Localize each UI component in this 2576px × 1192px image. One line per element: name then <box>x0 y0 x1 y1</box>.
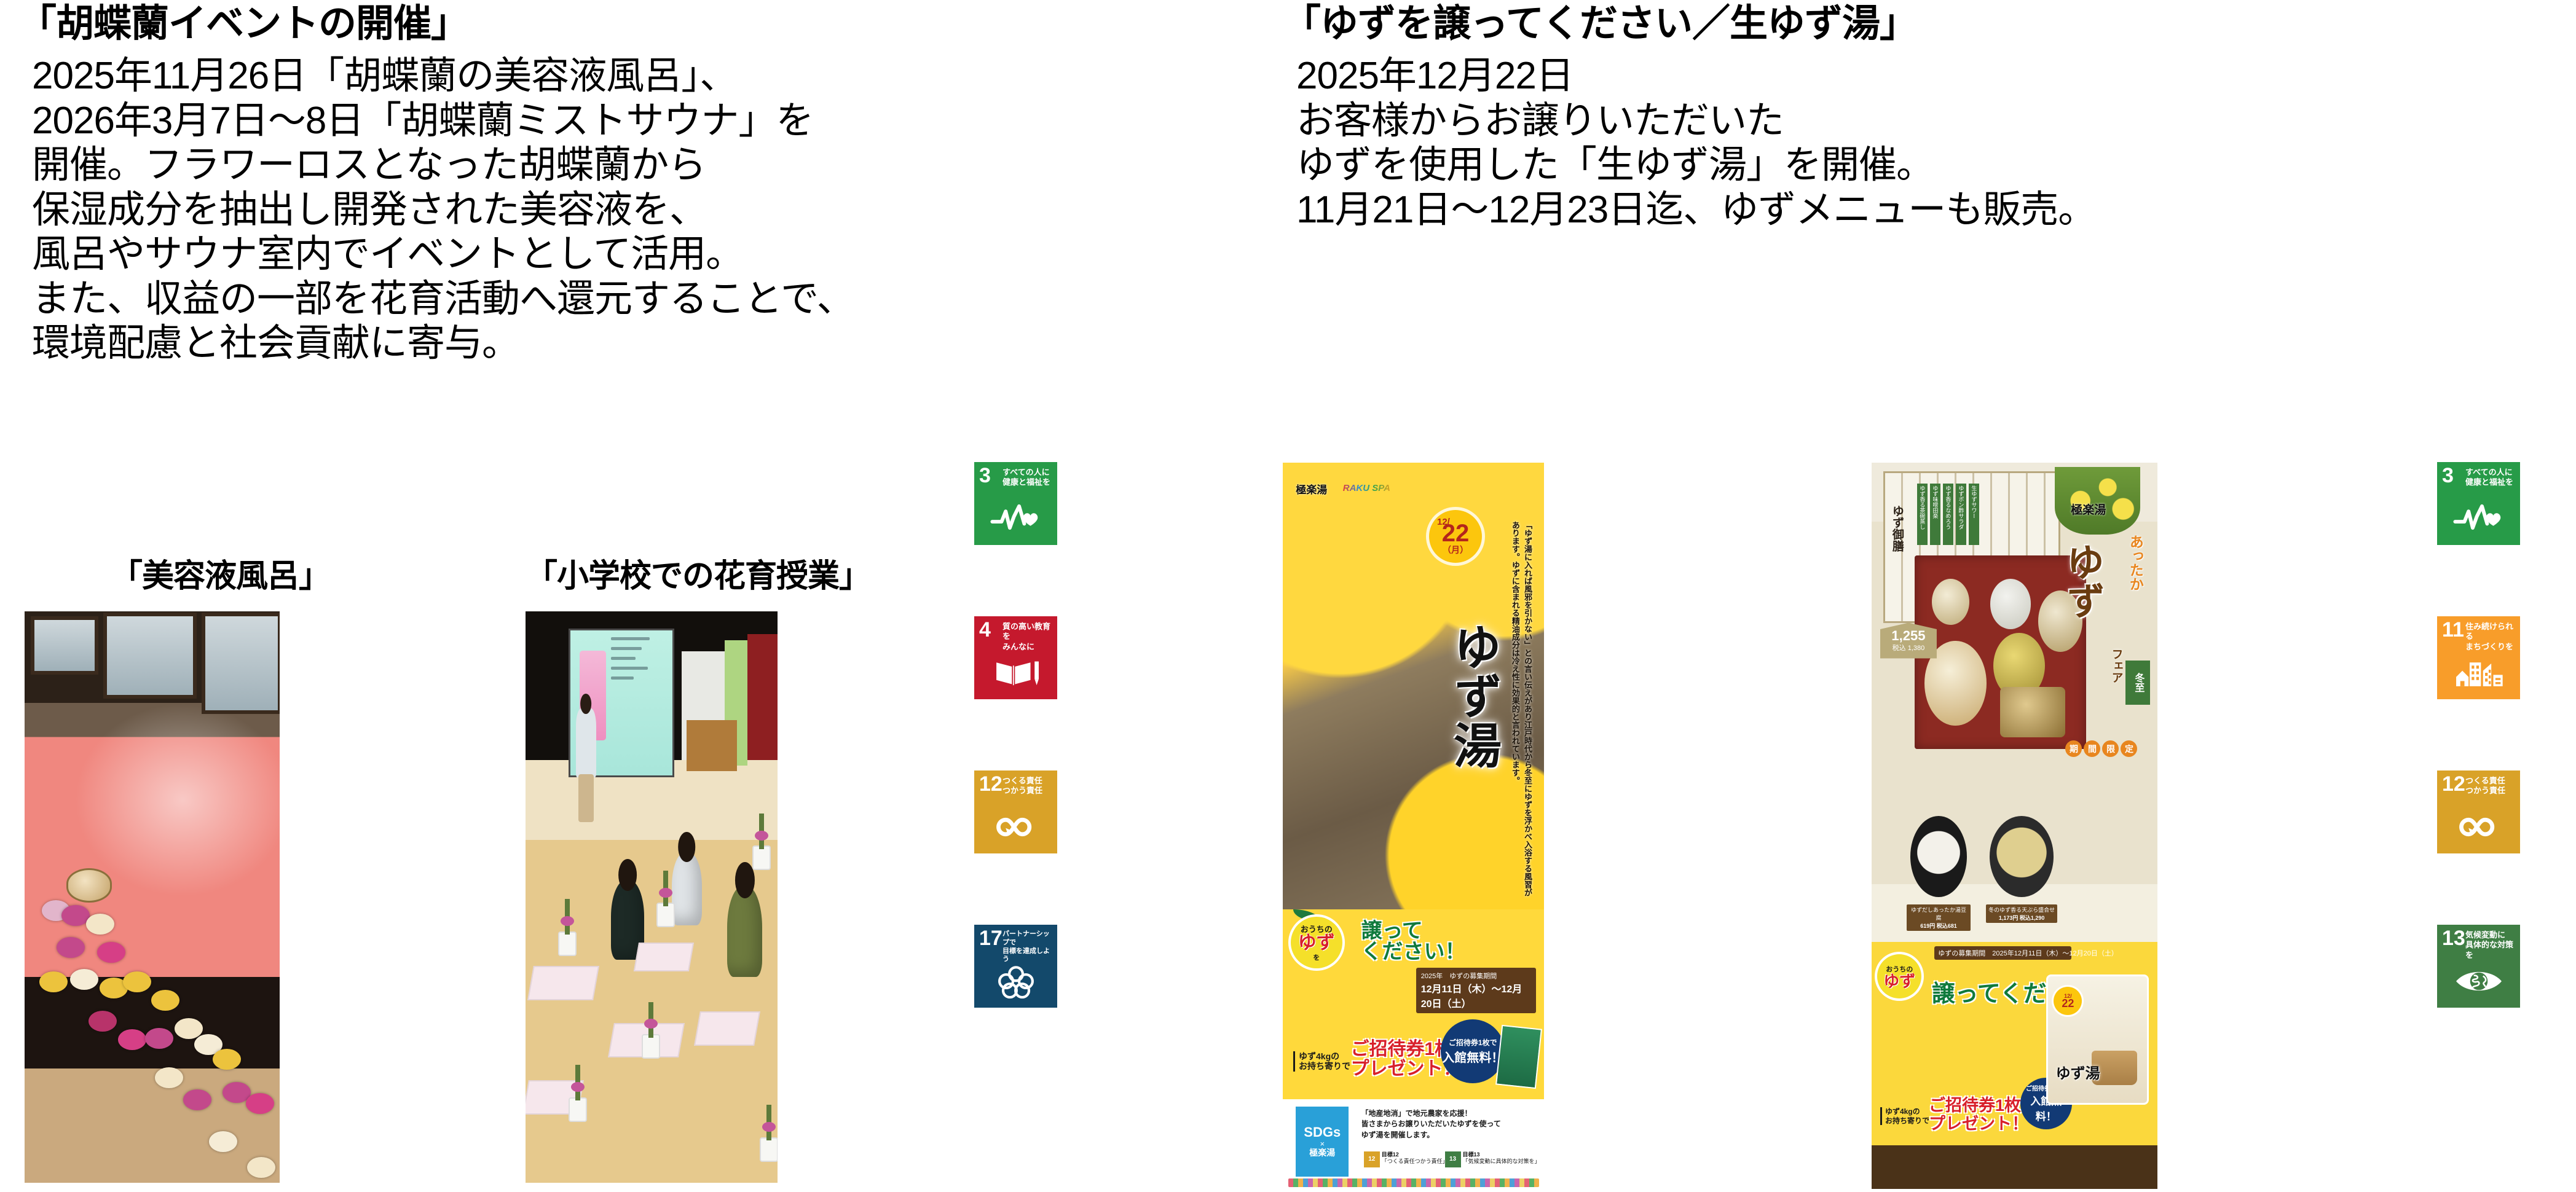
caption-beauty-bath: 「美容液風呂」 <box>111 550 330 596</box>
period-value: 12月11日（木）〜12月20日（土） <box>1421 981 1532 1010</box>
mini-goal-12-title: 目標12 <box>1382 1151 1399 1158</box>
limited-char: 間 <box>2084 740 2100 757</box>
right-body: 2025年12月22日 お客様からお譲りいただいた ゆずを使用した「生ゆず湯」を… <box>1283 54 2095 232</box>
poster-yuzu-fair-footer <box>1872 1145 2157 1189</box>
left-body-line-6: また、収益の一部を花育活動へ還元することで、 <box>32 277 854 322</box>
left-text-block: 「胡蝶蘭イベントの開催」 2025年11月26日「胡蝶蘭の美容液風呂」、 202… <box>18 5 854 366</box>
sdgs-rakuspa-badge: SDGs × 極楽湯 <box>1296 1107 1349 1177</box>
left-body: 2025年11月26日「胡蝶蘭の美容液風呂」、 2026年3月7日〜8日「胡蝶蘭… <box>18 54 854 366</box>
sdgs-label: SDGs <box>1304 1125 1341 1140</box>
yuzu-gozen-label: ゆず御膳 <box>1889 505 1905 552</box>
limited-char: 定 <box>2121 740 2137 757</box>
yuzu-circle-badge: おうちの ゆず <box>1877 954 1921 998</box>
yuzu-condition-text: ゆず4kgの お持ち寄りで <box>1880 1107 1929 1125</box>
poster-yuzuyu-sdg-footer: SDGs × 極楽湯 「地産地消」で地元農家を応援！ 皆さまからお譲りいただいた… <box>1283 1098 1544 1189</box>
sdg-icon-3-right: 3 すべての人に 健康と福祉を <box>2437 462 2520 545</box>
dish-photo-tofu <box>1910 816 1967 897</box>
circles-icon <box>974 960 1057 1003</box>
poster-yuzu-fair-headline: ゆず <box>2054 543 2109 620</box>
yuzuyu-photo-card: 12/ 22 ゆず湯 <box>2046 974 2149 1105</box>
mini-goal-13: 13 目標13 「気候変動に具体的な対策を」 <box>1445 1151 1540 1167</box>
infinity-icon <box>974 806 1057 849</box>
fair-label: フェア <box>2108 648 2125 683</box>
right-body-line-1: 2025年12月22日 <box>1296 54 2095 99</box>
sdg-number: 12 <box>2442 774 2465 794</box>
rakuspa-logo: 極楽湯 <box>2071 501 2106 517</box>
poster-yuzu-fair[interactable]: ゆず御膳 ゆず香る茶碗蒸し ゆず味噌田楽 ゆず香るなめろう ゆずポン酢サラダ 生… <box>1872 463 2157 1189</box>
menu-item: ゆず味噌田楽 <box>1930 484 1940 545</box>
left-body-line-7: 環境配慮と社会貢献に寄与。 <box>32 321 854 366</box>
yuzuyu-date-badge: 12/ 22 <box>2054 987 2082 1015</box>
menu-item: ゆず香るなめろう <box>1943 484 1953 545</box>
free-entry-badge: ご招待券1枚で 入館無料！ <box>1441 1019 1505 1083</box>
poster-yuzuyu-yellow-band: おうちの ゆず を 譲って ください！ 2025年 ゆずの募集期間 12月11日… <box>1283 909 1544 1098</box>
mini-goal-12-number: 12 <box>1364 1151 1380 1167</box>
dish2-price: 1,173円 税込1,290 <box>1999 915 2045 921</box>
limited-period-badges: 期 間 限 定 <box>2065 740 2137 757</box>
menu-item: ゆず香る茶碗蒸し <box>1917 484 1928 545</box>
sdg-number: 4 <box>979 619 991 640</box>
sdgs-brand: 極楽湯 <box>1309 1148 1335 1158</box>
mini-goal-12: 12 目標12 「つくる責任つかう責任」 <box>1364 1151 1448 1167</box>
sdg-number: 17 <box>979 928 1002 949</box>
yuzu-circle-main: ゆず <box>1298 935 1335 952</box>
sdg-icon-4-left: 4 質の高い教育を みんなに <box>974 616 1057 699</box>
left-body-line-4: 保湿成分を抽出し開発された美容液を、 <box>32 188 854 233</box>
menu-item-strips: ゆず香る茶碗蒸し ゆず味噌田楽 ゆず香るなめろう ゆずポン酢サラダ 生ゆずサワー <box>1917 484 1979 545</box>
sdg-number: 11 <box>2442 619 2464 640</box>
dish2-name: 冬のゆず香る天ぷら盛合せ <box>1988 907 2055 913</box>
sdg-icon-13-right: 13 気候変動に 具体的な対策を <box>2437 925 2520 1008</box>
caption-school-class: 「小学校での花育授業」 <box>526 550 870 596</box>
sdg-number: 3 <box>2442 465 2454 486</box>
sdg-icon-12-left: 12 つくる責任 つかう責任 <box>974 770 1057 853</box>
limited-char: 期 <box>2065 740 2082 757</box>
eye-earth-icon <box>2437 960 2520 1003</box>
heartbeat-icon <box>974 497 1057 540</box>
dish1-price: 619円 税込681 <box>1920 923 1957 929</box>
sdg-label: すべての人に 健康と福祉を <box>1002 468 1055 488</box>
mini-goal-13-number: 13 <box>1445 1151 1461 1167</box>
sdg-icon-12-right: 12 つくる責任 つかう責任 <box>2437 770 2520 853</box>
decorative-town-strip <box>1288 1178 1539 1187</box>
date-day: 22 <box>2062 999 2074 1008</box>
yuzu-collection-period: 2025年 ゆずの募集期間 12月11日（木）〜12月20日（土） <box>1416 968 1537 1013</box>
attaka-label: あったか <box>2125 535 2146 591</box>
dish-photo-tempura <box>1990 816 2054 897</box>
left-title: 「胡蝶蘭イベントの開催」 <box>18 5 854 43</box>
right-text-block: 「ゆずを譲ってください／生ゆず湯」 2025年12月22日 お客様からお譲りいた… <box>1283 5 2095 232</box>
price-sub: 税込 1,380 <box>1893 643 1925 653</box>
menu-item: 生ゆずサワー <box>1969 484 1979 545</box>
rakuspa-logo: 極楽湯 <box>1296 481 1327 496</box>
left-body-line-2: 2026年3月7日〜8日「胡蝶蘭ミストサウナ」を <box>32 99 854 144</box>
infinity-icon <box>2437 806 2520 849</box>
photo-beauty-bath <box>25 611 280 1183</box>
sdg-icon-11-right: 11 住み続けられる まちづくりを <box>2437 616 2520 699</box>
book-pencil-icon <box>974 651 1057 694</box>
sdg-label: 気候変動に 具体的な対策を <box>2465 930 2518 960</box>
price-main: 1,255 <box>1891 629 1925 643</box>
yuzu-request-text: 譲って ください！ <box>1361 920 1466 962</box>
free-entry-line1: ご招待券1枚で <box>1449 1037 1497 1048</box>
yuzu-circle-wo: を <box>1313 952 1320 962</box>
poster-yuzuyu-vertical-text: 「ゆず湯に入れば風邪を引かない」との言い伝えがあり江戸時代から冬至にゆずを浮かべ… <box>1509 521 1534 899</box>
yuzu-circle-badge: おうちの ゆず を <box>1291 917 1342 968</box>
yuzuyu-label: ゆず湯 <box>2056 1061 2100 1083</box>
yuzu-condition-text: ゆず4kgの お持ち寄りで <box>1293 1051 1350 1072</box>
sdg-label: つくる責任 つかう責任 <box>1002 776 1055 796</box>
sdg-footer-text: 「地産地消」で地元農家を応援！ 皆さまからお譲りいただいたゆずを使って ゆず湯を… <box>1361 1108 1501 1140</box>
mini-goal-13-title: 目標13 <box>1463 1151 1480 1158</box>
coupon-ticket-image <box>1495 1025 1542 1089</box>
right-body-line-3: ゆずを使用した「生ゆず湯」を開催。 <box>1296 143 2095 188</box>
yuzu-collection-period: ゆずの募集期間 2025年12月11日（木）〜12月20日（土） <box>1934 946 2071 960</box>
date-day: 22 <box>1442 523 1470 543</box>
slide-canvas: 「胡蝶蘭イベントの開催」 2025年11月26日「胡蝶蘭の美容液風呂」、 202… <box>0 0 2576 1192</box>
period-label: 2025年 ゆずの募集期間 <box>1421 971 1532 981</box>
price-tag: 1,255 税込 1,380 <box>1880 623 1937 659</box>
yuzu-reward-text: ご招待券1枚 プレゼント！ <box>1929 1097 2028 1133</box>
date-weekday: （月） <box>1443 544 1468 556</box>
sdg-label: すべての人に 健康と福祉を <box>2465 468 2518 488</box>
heartbeat-icon <box>2437 497 2520 540</box>
touji-badge: 冬至 <box>2125 661 2150 705</box>
sdg-number: 12 <box>979 774 1002 794</box>
photo-school-flower-class <box>526 611 778 1183</box>
right-title: 「ゆずを譲ってください／生ゆず湯」 <box>1283 5 2095 43</box>
sdg-label: 質の高い教育を みんなに <box>1002 622 1055 652</box>
poster-yuzuyu[interactable]: 極楽湯 RAKU SPA 「ゆず湯に入れば風邪を引かない」との言い伝えがあり江戸… <box>1283 463 1544 1189</box>
sdgs-times: × <box>1320 1140 1325 1148</box>
sdg-label: 住み続けられる まちづくりを <box>2465 622 2518 652</box>
sdg-label: パートナーシップで 目標を達成しよう <box>1002 930 1055 964</box>
sdg-icon-3-left: 3 すべての人に 健康と福祉を <box>974 462 1057 545</box>
mini-goal-12-text: 「つくる責任つかう責任」 <box>1382 1158 1448 1164</box>
right-body-line-2: お客様からお譲りいただいた <box>1296 99 2095 144</box>
mini-goal-13-text: 「気候変動に具体的な対策を」 <box>1463 1158 1540 1164</box>
left-body-line-1: 2025年11月26日「胡蝶蘭の美容液風呂」、 <box>32 54 854 99</box>
sdg-number: 3 <box>979 465 991 486</box>
poster-yuzuyu-headline: ゆず湯 <box>1440 622 1508 770</box>
city-icon <box>2437 651 2520 694</box>
left-body-line-3: 開催。フラワーロスとなった胡蝶蘭から <box>32 143 854 188</box>
rakuspa-wordmark: RAKU SPA <box>1343 483 1390 493</box>
menu-item: ゆずポン酢サラダ <box>1956 484 1966 545</box>
poster-yuzu-fair-yellow-band: おうちの ゆず ゆずの募集期間 2025年12月11日（木）〜12月20日（土）… <box>1872 942 2157 1145</box>
free-entry-line2: 入館無料！ <box>1442 1048 1503 1065</box>
left-body-line-5: 風呂やサウナ室内でイベントとして活用。 <box>32 232 854 277</box>
limited-char: 限 <box>2102 740 2119 757</box>
sdg-icon-17-left: 17 パートナーシップで 目標を達成しよう <box>974 925 1057 1008</box>
poster-yuzuyu-date-badge: 12/ 22 （月） <box>1429 510 1482 563</box>
dish1-name: ゆずだしあったか湯豆腐 <box>1911 907 1966 921</box>
sdg-label: つくる責任 つかう責任 <box>2465 776 2518 796</box>
yuzu-circle-main: ゆず <box>1883 974 1915 989</box>
right-body-line-4: 11月21日〜12月23日迄、ゆずメニューも販売。 <box>1296 188 2095 233</box>
sdg-number: 13 <box>2442 928 2465 949</box>
